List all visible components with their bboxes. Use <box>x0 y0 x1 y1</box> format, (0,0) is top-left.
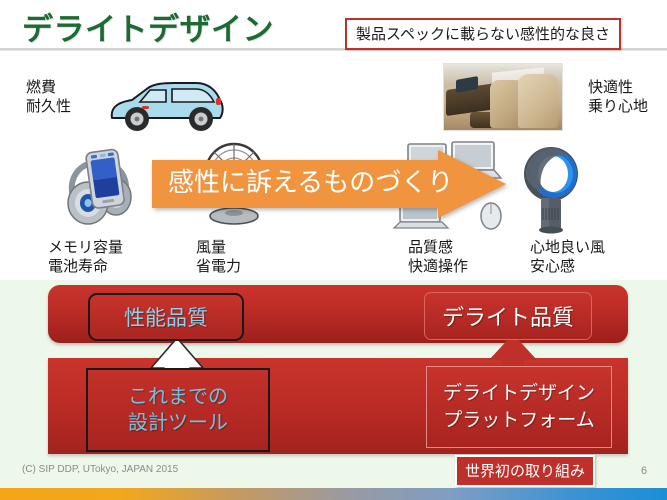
label-fan-line1: 風量 <box>196 238 241 257</box>
arrow-label: 感性に訴えるものづくり <box>168 162 458 199</box>
label-bfan-line1: 心地良い風 <box>530 238 605 257</box>
label-interior-line2: 乗り心地 <box>588 97 648 116</box>
label-audio-specs: メモリ容量 電池寿命 <box>48 238 123 276</box>
bladeless-fan-icon <box>520 144 582 234</box>
label-fan-specs: 風量 省電力 <box>196 238 241 276</box>
label-car-spec-line1: 燃費 <box>26 78 71 97</box>
callout-box: 製品スペックに載らない感性的な良さ <box>345 18 621 50</box>
legacy-tool-line1: これまでの <box>128 384 228 410</box>
delight-design-platform-box[interactable]: デライトデザイン プラットフォーム <box>426 366 612 448</box>
label-audio-line2: 電池寿命 <box>48 257 123 276</box>
car-clipart-icon <box>104 76 226 136</box>
copyright-text: (C) SIP DDP, UTokyo, JAPAN 2015 <box>22 464 178 475</box>
bottom-gradient-bar <box>0 488 667 500</box>
label-interior-specs: 快適性 乗り心地 <box>588 78 648 116</box>
car-interior-photo <box>444 64 562 130</box>
performance-quality-label: 性能品質 <box>124 302 208 332</box>
delight-quality-box[interactable]: デライト品質 <box>424 292 592 340</box>
label-car-spec-line2: 耐久性 <box>26 97 71 116</box>
delight-quality-label: デライト品質 <box>442 300 574 332</box>
label-bladeless-fan-specs: 心地良い風 安心感 <box>530 238 605 276</box>
label-interior-line1: 快適性 <box>588 78 648 97</box>
label-car-specs: 燃費 耐久性 <box>26 78 71 116</box>
headphones-smartphone-icon <box>64 145 138 227</box>
platform-line2: プラットフォーム <box>443 407 594 434</box>
interior-seat-front <box>518 74 558 128</box>
performance-quality-box[interactable]: 性能品質 <box>88 293 244 341</box>
page-number: 6 <box>641 465 647 477</box>
page-title: デライトデザイン <box>22 4 274 49</box>
legacy-design-tool-box[interactable]: これまでの 設計ツール <box>86 368 270 452</box>
world-first-badge: 世界初の取り組み <box>455 455 595 487</box>
label-laptop-line2: 快適操作 <box>408 257 468 276</box>
platform-line1: デライトデザイン <box>443 380 595 407</box>
label-fan-line2: 省電力 <box>196 257 241 276</box>
label-laptop-specs: 品質感 快適操作 <box>408 238 468 276</box>
legacy-tool-line2: 設計ツール <box>128 410 228 436</box>
slide-canvas: デライトデザイン 製品スペックに載らない感性的な良さ <box>0 0 667 500</box>
label-laptop-line1: 品質感 <box>408 238 468 257</box>
label-bfan-line2: 安心感 <box>530 257 605 276</box>
label-audio-line1: メモリ容量 <box>48 238 123 257</box>
